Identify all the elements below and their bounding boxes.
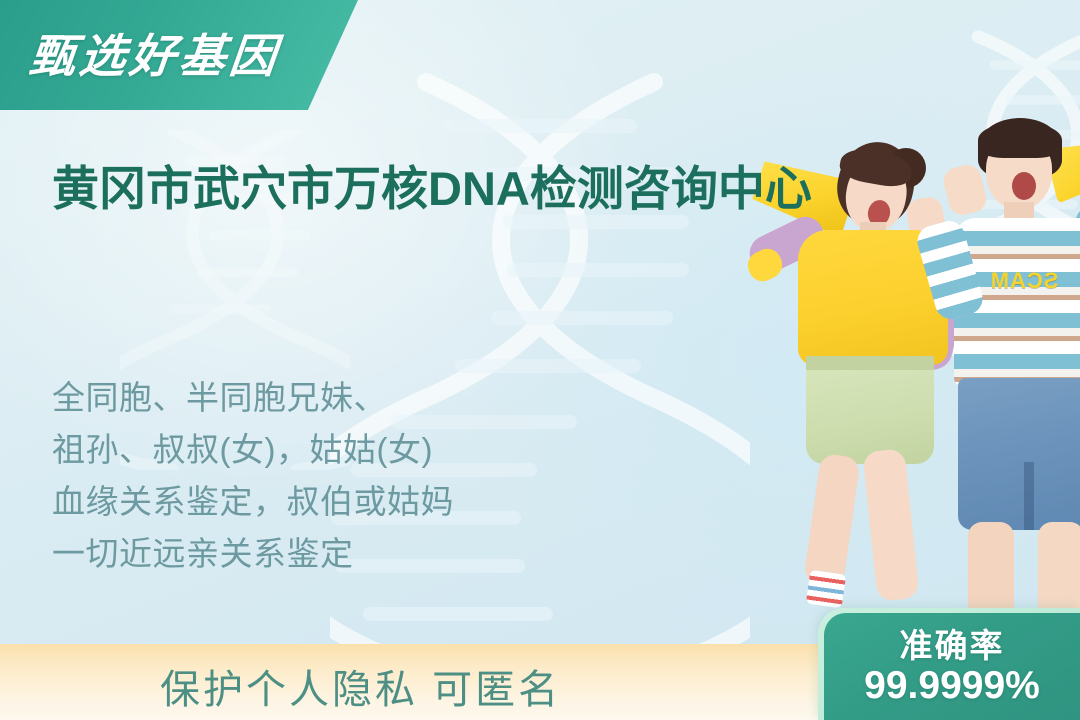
woman-belt [806,356,934,370]
man-face [986,136,1052,210]
man-neck [1004,202,1034,224]
woman-left-cuff [743,244,787,286]
woman-sock [806,570,846,609]
logo-text: 甄选好基因 [27,20,284,86]
privacy-slogan: 保护个人隐私 可匿名 [160,668,561,712]
dna-helix-icon [940,30,1080,360]
promotional-banner: SCAM 甄选好基因 黄冈市武穴市万核DNA检测咨询中心 全同胞、半同胞兄妹、 … [0,0,1080,720]
man-shorts-seam [1024,462,1034,530]
description-block: 全同胞、半同胞兄妹、 祖孙、叔叔(女)，姑姑(女) 血缘关系鉴定，叔伯或姑妈 一… [52,372,572,581]
accuracy-badge: 准确率 99.9999% [818,608,1080,720]
man-striped-tee [954,218,1080,386]
woman-fringe [838,144,915,190]
woman-right-arm [905,257,971,374]
man-denim-shorts [958,378,1080,530]
page-title: 黄冈市武穴市万核DNA检测咨询中心 [52,158,842,220]
man-right-arm [1048,201,1080,303]
woman-left-sleeve [744,211,831,279]
description-line: 祖孙、叔叔(女)，姑姑(女) [52,424,572,476]
woman-face [840,155,912,236]
accuracy-badge-panel: 准确率 99.9999% [824,613,1080,720]
man-tee-text: SCAM [974,270,1074,314]
man-mouth [1012,172,1036,200]
woman-neck [860,222,886,246]
description-line: 一切近远亲关系鉴定 [52,528,572,580]
woman-mouth [866,198,893,228]
description-line: 血缘关系鉴定，叔伯或姑妈 [52,476,572,528]
woman-shirt [798,230,948,365]
accuracy-label: 准确率 [900,628,1005,664]
man-left-arm [914,217,987,323]
woman-leg-left [803,453,861,587]
woman-right-hand [905,195,948,243]
man-fringe [978,122,1062,158]
man-hair [978,118,1062,178]
accuracy-value: 99.9999% [864,664,1040,709]
woman-hair [830,135,922,233]
woman-hair-bun [886,148,926,188]
description-line: 全同胞、半同胞兄妹、 [52,372,572,424]
megaphone-icon [1045,128,1080,203]
woman-leg-right [862,448,919,602]
woman-shorts [806,356,934,464]
man-left-hand [941,162,989,218]
